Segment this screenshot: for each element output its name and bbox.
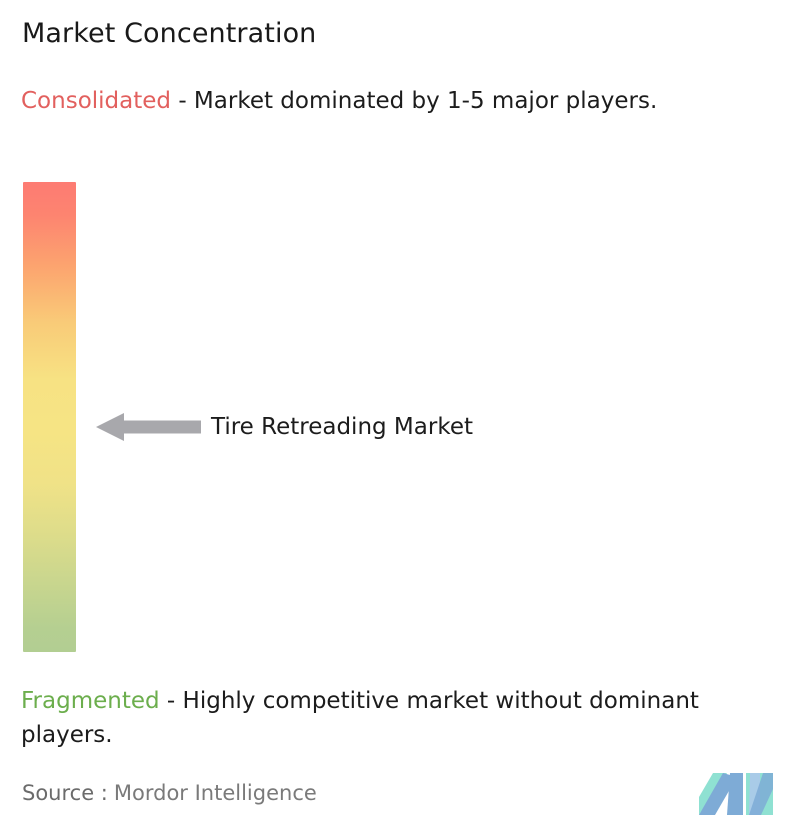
legend-consolidated-description: - Market dominated by 1-5 major players. (171, 88, 657, 114)
legend-fragmented-term: Fragmented (21, 688, 160, 714)
source-label: Source : (22, 781, 108, 805)
mordor-intelligence-logo (697, 771, 775, 817)
legend-consolidated-term: Consolidated (21, 88, 171, 114)
mordor-intelligence-logo-icon (697, 771, 775, 817)
page-title: Market Concentration (22, 18, 316, 49)
concentration-gradient-bar (23, 182, 76, 652)
source-attribution: Source :Mordor Intelligence (22, 781, 317, 805)
market-position-label: Tire Retreading Market (211, 414, 473, 440)
source-value: Mordor Intelligence (114, 781, 317, 805)
market-position-marker: Tire Retreading Market (96, 406, 473, 448)
legend-fragmented: Fragmented - Highly competitive market w… (21, 684, 783, 752)
chart-canvas: Market Concentration Consolidated - Mark… (0, 0, 796, 834)
legend-consolidated: Consolidated - Market dominated by 1-5 m… (21, 84, 773, 118)
arrow-left-icon (96, 410, 201, 444)
